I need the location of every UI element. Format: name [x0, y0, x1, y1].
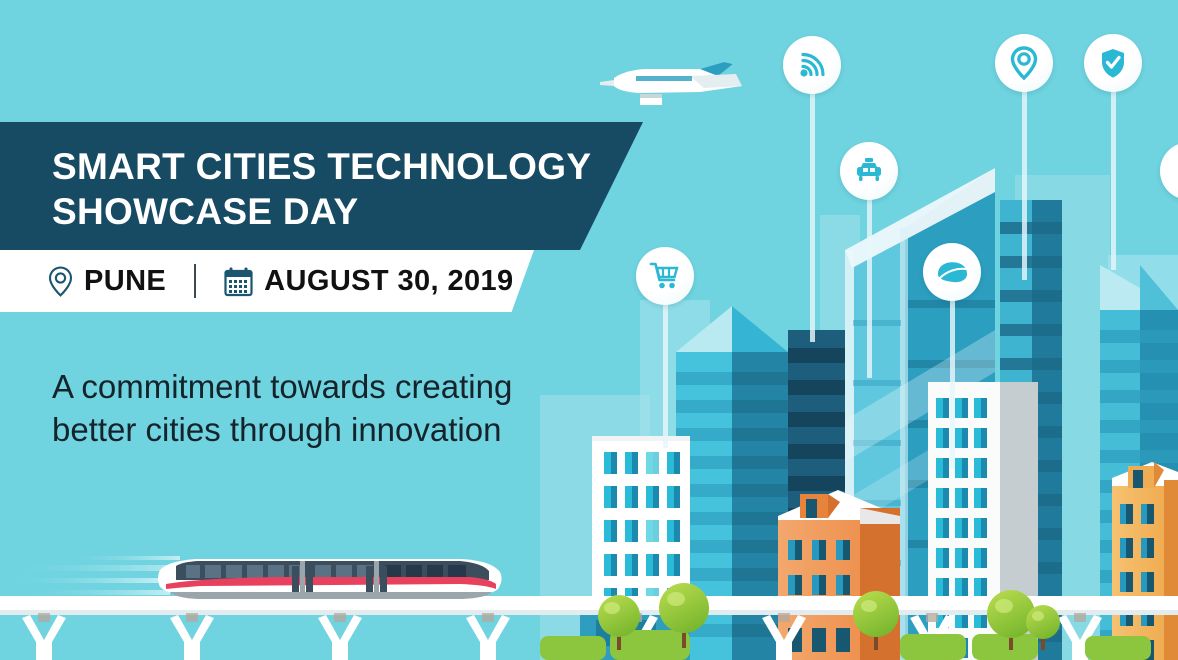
- pin-map-location[interactable]: [995, 34, 1053, 280]
- event-banner: SMART CITIES TECHNOLOGY SHOWCASE DAY PUN…: [0, 0, 1178, 660]
- taxi-icon: [853, 156, 885, 186]
- date-label: AUGUST 30, 2019: [264, 265, 513, 298]
- pin-taxi[interactable]: [840, 142, 898, 382]
- pin-bubble: [923, 243, 981, 301]
- pin-stem: [1111, 90, 1116, 270]
- pin-eco-leaf[interactable]: [923, 243, 981, 475]
- location-label: PUNE: [84, 265, 166, 298]
- shield-check-icon: [1099, 47, 1127, 79]
- shopping-cart-icon: [649, 261, 681, 291]
- pin-shield-check[interactable]: [1084, 34, 1142, 270]
- calendar-icon: [224, 266, 253, 297]
- map-pin-icon: [1010, 46, 1038, 80]
- pin-stem: [950, 299, 955, 469]
- pin-bubble: [783, 36, 841, 94]
- subtitle-line-2: better cities through innovation: [52, 408, 612, 451]
- pin-bubble: [840, 142, 898, 200]
- pin-stem: [663, 303, 668, 448]
- pin-wifi-signal[interactable]: [783, 36, 841, 342]
- pin-stem: [810, 92, 815, 342]
- event-date: AUGUST 30, 2019: [224, 265, 513, 298]
- subtitle-line-1: A commitment towards creating: [52, 365, 612, 408]
- wifi-signal-icon: [796, 49, 828, 81]
- pin-shopping-cart[interactable]: [636, 247, 694, 459]
- pin-stem: [1022, 90, 1027, 280]
- pin-bubble: [636, 247, 694, 305]
- pin-edge-cut[interactable]: [1160, 142, 1178, 320]
- event-subtitle: A commitment towards creating better cit…: [52, 365, 612, 451]
- event-location: PUNE: [48, 265, 166, 298]
- pin-bubble: [1084, 34, 1142, 92]
- leaf-eco-icon: [935, 258, 969, 286]
- pin-bubble: [995, 34, 1053, 92]
- pin-stem: [867, 198, 872, 378]
- title-plate: [0, 122, 643, 250]
- location-pin-icon: [48, 266, 73, 297]
- high-speed-train: [158, 559, 502, 599]
- pin-bubble: [1160, 142, 1178, 200]
